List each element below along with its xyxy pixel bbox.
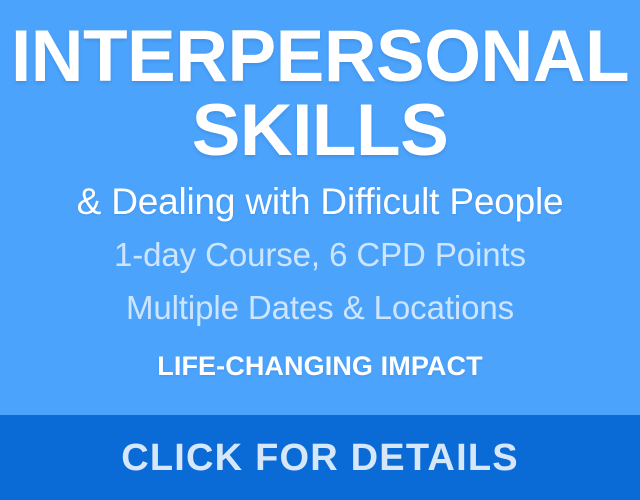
banner-tagline: LIFE-CHANGING IMPACT [157, 350, 482, 382]
banner-subtitle: & Dealing with Difficult People [77, 181, 564, 223]
course-detail-dates: Multiple Dates & Locations [126, 288, 514, 328]
course-detail-duration: 1-day Course, 6 CPD Points [114, 235, 526, 275]
advertisement-banner[interactable]: INTERPERSONAL SKILLS & Dealing with Diff… [0, 0, 640, 500]
cta-button-label: CLICK FOR DETAILS [121, 436, 519, 480]
headline-line-2: SKILLS [192, 95, 449, 167]
cta-button[interactable]: CLICK FOR DETAILS [0, 415, 640, 500]
headline-line-1: INTERPERSONAL [11, 21, 629, 93]
banner-content: INTERPERSONAL SKILLS & Dealing with Diff… [0, 0, 640, 415]
